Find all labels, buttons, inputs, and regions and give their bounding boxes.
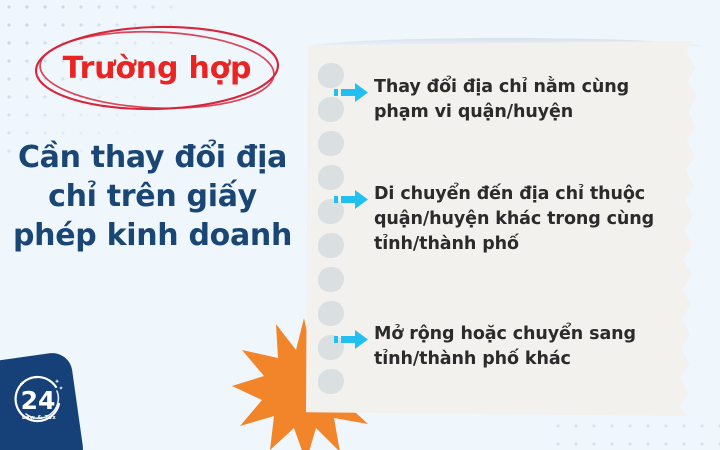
list-item: Mở rộng hoặc chuyển sang tỉnh/thành phố … (334, 322, 686, 372)
note-panel: Thay đổi địa chỉ nằm cùng phạm vi quận/h… (306, 41, 706, 416)
svg-text:24: 24 (21, 386, 56, 415)
right-arrow-icon (334, 190, 368, 213)
list-item-label: Thay đổi địa chỉ nằm cùng phạm vi quận/h… (374, 75, 686, 125)
right-arrow-icon (334, 83, 368, 106)
24-law-and-tax-logo-icon: 24 Law & Tax (10, 373, 68, 429)
punch-hole (318, 369, 344, 394)
svg-text:Law & Tax: Law & Tax (22, 415, 56, 421)
page-title: Cần thay đổi địa chỉ trên giấy phép kinh… (10, 138, 295, 255)
case-badge: Trường hợp (32, 22, 282, 114)
list-item-label: Mở rộng hoặc chuyển sang tỉnh/thành phố … (374, 322, 686, 372)
list-item: Thay đổi địa chỉ nằm cùng phạm vi quận/h… (334, 75, 686, 125)
infographic-poster: Trường hợp Cần thay đổi địa chỉ trên giấ… (0, 0, 720, 450)
right-arrow-icon (334, 330, 368, 353)
punch-hole (318, 131, 344, 156)
brand-logo: 24 Law & Tax (10, 373, 68, 429)
list-item-label: Di chuyển đến địa chỉ thuộc quận/huyện k… (374, 182, 686, 257)
dot-pattern-bottom-right (545, 413, 720, 450)
list-item: Di chuyển đến địa chỉ thuộc quận/huyện k… (334, 182, 686, 257)
punch-hole (318, 267, 344, 292)
case-badge-label: Trường hợp (32, 22, 282, 114)
